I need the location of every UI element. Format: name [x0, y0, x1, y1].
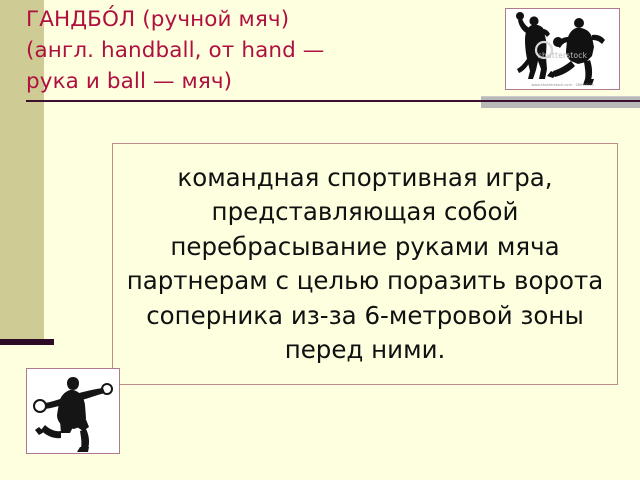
left-accent-bar	[0, 339, 54, 345]
title-line-3: рука и ball — мяч)	[26, 66, 496, 97]
slide-canvas: ГАНДБО́Л (ручной мяч) (англ. handball, о…	[0, 0, 640, 480]
handball-silhouettes-icon	[506, 9, 619, 89]
photo-credit: www.shutterstock.com · 28990110	[506, 83, 619, 87]
title-line-2: (англ. handball, от hand —	[26, 35, 496, 66]
handball-player-lineart-photo	[26, 368, 120, 454]
definition-text: командная спортивная игра, представляюща…	[113, 161, 617, 368]
title-divider	[26, 100, 481, 102]
handball-players-silhouette-photo: shutterstock www.shutterstock.com · 2899…	[505, 8, 620, 90]
title-divider-shadow-line	[481, 100, 640, 102]
definition-textbox: командная спортивная игра, представляюща…	[112, 143, 618, 385]
title-line-1: ГАНДБО́Л (ручной мяч)	[26, 4, 496, 35]
handball-player-lineart-icon	[27, 369, 119, 453]
page-title: ГАНДБО́Л (ручной мяч) (англ. handball, о…	[26, 4, 496, 97]
title-divider-shadow	[481, 96, 640, 108]
